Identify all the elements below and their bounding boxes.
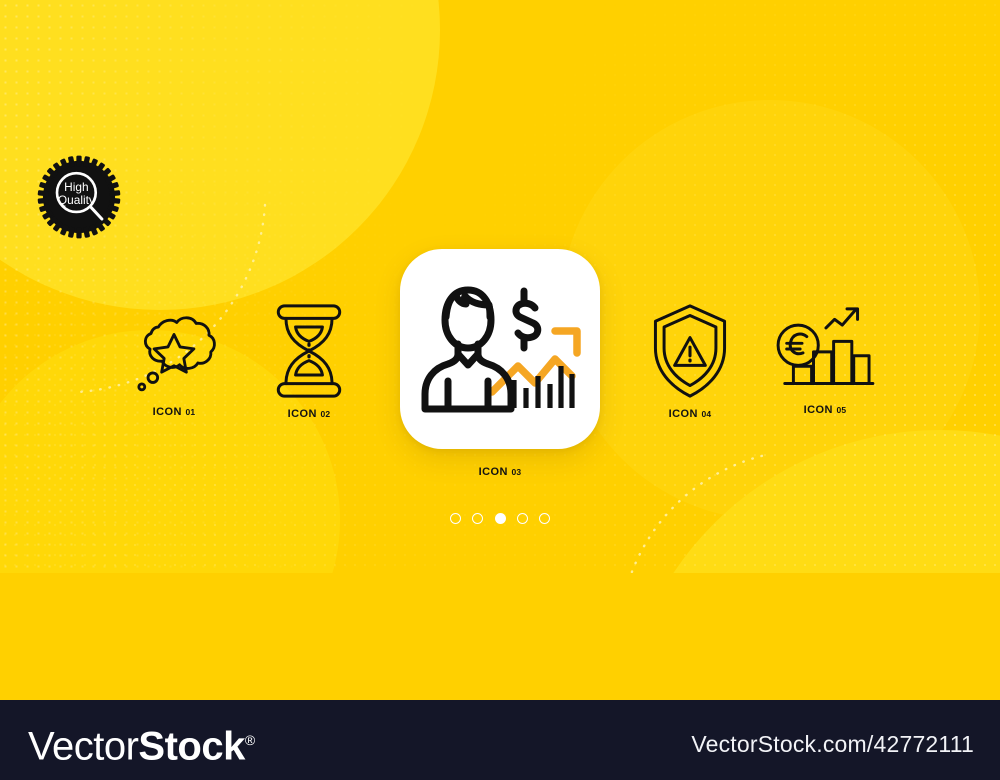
featured-icon-caption: ICON 03 bbox=[400, 466, 600, 478]
logo-text-bold: Stock bbox=[138, 724, 244, 768]
icon-caption-num-01: 01 bbox=[185, 407, 195, 417]
icon-caption-num-02: 02 bbox=[320, 409, 330, 419]
featured-icon-card[interactable] bbox=[400, 249, 600, 449]
artboard-background: High Quality ICON 01 bbox=[0, 0, 1000, 573]
pagination-dot-5[interactable] bbox=[539, 513, 550, 524]
footer-bar: VectorStock® VectorStock.com/42772111 bbox=[0, 700, 1000, 780]
icon-caption-num-05: 05 bbox=[836, 405, 846, 415]
carousel-pagination[interactable] bbox=[450, 511, 550, 525]
star-thought-bubble-icon bbox=[128, 305, 220, 397]
logo-text-light: Vector bbox=[28, 724, 138, 768]
icon-caption-num-03: 03 bbox=[511, 467, 521, 477]
icon-caption-word-01: ICON bbox=[153, 406, 182, 418]
icon-caption-num-04: 04 bbox=[701, 409, 711, 419]
icon-item-02[interactable]: ICON 02 bbox=[249, 303, 369, 420]
badge-line1: High bbox=[64, 180, 88, 194]
icon-item-04[interactable]: ICON 04 bbox=[630, 303, 750, 420]
icon-caption-02: ICON 02 bbox=[249, 408, 369, 420]
icon-caption-05: ICON 05 bbox=[765, 404, 885, 416]
icon-caption-word-02: ICON bbox=[288, 408, 317, 420]
hourglass-icon bbox=[270, 303, 348, 399]
icon-caption-04: ICON 04 bbox=[630, 408, 750, 420]
high-quality-seal-icon: High Quality bbox=[35, 153, 123, 241]
badge-line2: Quality bbox=[58, 193, 95, 207]
footer-url[interactable]: VectorStock.com/42772111 bbox=[691, 731, 974, 758]
icon-caption-01: ICON 01 bbox=[114, 406, 234, 418]
vectorstock-logo[interactable]: VectorStock® bbox=[28, 720, 255, 766]
dotted-arc-right bbox=[620, 450, 850, 573]
high-quality-badge: High Quality bbox=[35, 153, 123, 241]
pagination-dot-1[interactable] bbox=[450, 513, 461, 524]
screenshot-root: High Quality ICON 01 bbox=[0, 0, 1000, 780]
icon-item-05[interactable]: ICON 05 bbox=[765, 305, 885, 416]
pagination-dot-3-active[interactable] bbox=[495, 513, 506, 524]
euro-bar-chart-growth-icon bbox=[775, 305, 875, 395]
shield-warning-icon bbox=[649, 303, 731, 399]
pagination-dot-2[interactable] bbox=[472, 513, 483, 524]
registered-trademark-icon: ® bbox=[245, 732, 255, 748]
icon-caption-word-05: ICON bbox=[804, 404, 833, 416]
pagination-dot-4[interactable] bbox=[517, 513, 528, 524]
icon-caption-word-04: ICON bbox=[669, 408, 698, 420]
icon-item-01[interactable]: ICON 01 bbox=[114, 305, 234, 418]
business-growth-person-dollar-chart-icon bbox=[400, 249, 600, 449]
icon-caption-word-03: ICON bbox=[479, 466, 508, 478]
